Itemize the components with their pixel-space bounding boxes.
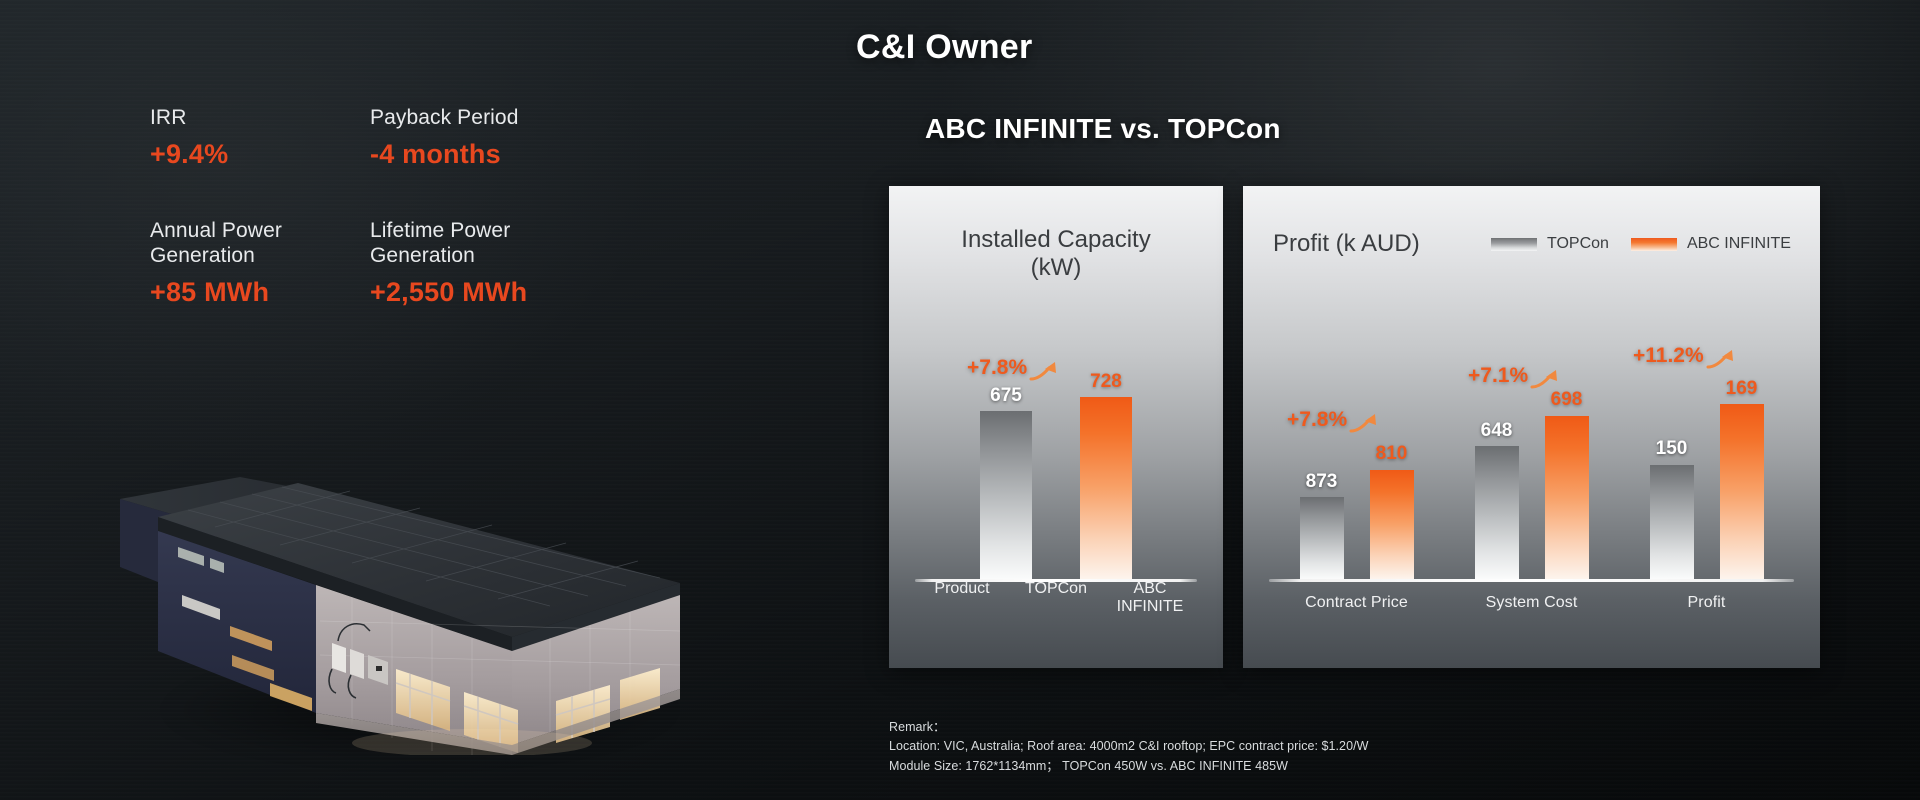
bar-topcon-system-cost: 648 [1475, 346, 1519, 579]
group-label-contract-price: Contract Price [1269, 594, 1444, 612]
bar-group-product: +7.8% 675 728 [915, 346, 1197, 582]
tick-label-topcon: TOPCon [1009, 580, 1103, 616]
kpi-payback-period-value: -4 months [370, 139, 650, 170]
installed-capacity-chart-panel: Installed Capacity (kW) +7.8% 675 [889, 186, 1223, 668]
bar-fill-topcon-system-cost [1475, 446, 1519, 579]
legend-label-abc-infinite: ABC INFINITE [1687, 235, 1791, 253]
installed-capacity-bars: 675 728 [915, 346, 1197, 579]
bar-value-topcon-capacity: 675 [990, 385, 1022, 407]
bar-group-profit: +11.2% 150 169 Profit [1619, 346, 1794, 582]
legend-swatch-topcon-icon [1491, 238, 1537, 251]
bar-group-contract-price: +7.8% 873 810 Contract [1269, 346, 1444, 582]
kpi-lifetime-power-generation: Lifetime Power Generation +2,550 MWh [370, 218, 650, 308]
building-render-svg [120, 455, 720, 755]
bar-value-topcon-profit: 150 [1656, 438, 1688, 460]
bar-fill-topcon-contract-price [1300, 497, 1344, 579]
bar-abc-infinite-profit: 169 [1720, 346, 1764, 579]
bar-value-abc-infinite-capacity: 728 [1090, 371, 1122, 393]
legend-item-topcon: TOPCon [1491, 235, 1609, 253]
legend-swatch-abc-infinite-icon [1631, 238, 1677, 251]
kpi-lifetime-power-generation-value: +2,550 MWh [370, 277, 650, 308]
axis-label-product: Product [915, 580, 1009, 616]
left-summary-pane: IRR +9.4% Payback Period -4 months Annua… [0, 0, 860, 800]
bar-topcon-capacity: 675 [980, 346, 1032, 579]
installed-capacity-chart-title: Installed Capacity (kW) [889, 226, 1223, 283]
installed-capacity-plot-area: +7.8% 675 728 [915, 346, 1197, 582]
bar-value-topcon-contract-price: 873 [1306, 471, 1338, 493]
bar-abc-infinite-capacity: 728 [1080, 346, 1132, 579]
group-label-profit: Profit [1619, 594, 1794, 612]
kpi-annual-power-generation-value: +85 MWh [150, 277, 370, 308]
profit-chart-legend: TOPCon ABC INFINITE [1491, 235, 1791, 253]
kpi-irr: IRR +9.4% [150, 105, 370, 170]
bar-topcon-profit: 150 [1650, 346, 1694, 579]
kpi-irr-label: IRR [150, 105, 370, 131]
system-cost-bars: 648 698 [1444, 346, 1619, 579]
bar-fill-abc-infinite-capacity [1080, 397, 1132, 579]
bar-value-abc-infinite-contract-price: 810 [1376, 443, 1408, 465]
bar-fill-topcon-profit [1650, 465, 1694, 579]
bar-fill-abc-infinite-system-cost [1545, 416, 1589, 579]
profit-plot-area: +7.8% 873 810 Contract [1269, 346, 1794, 582]
group-label-system-cost: System Cost [1444, 594, 1619, 612]
bar-fill-abc-infinite-contract-price [1370, 470, 1414, 580]
kpi-irr-value: +9.4% [150, 139, 370, 170]
bar-value-abc-infinite-profit: 169 [1726, 378, 1758, 400]
remark-note: Remark： Location: VIC, Australia; Roof a… [889, 718, 1368, 776]
installed-capacity-bar-groups: +7.8% 675 728 [915, 346, 1197, 582]
kpi-payback-period: Payback Period -4 months [370, 105, 650, 170]
bar-value-abc-infinite-system-cost: 698 [1551, 389, 1583, 411]
contract-price-bars: 873 810 [1269, 346, 1444, 579]
bar-topcon-contract-price: 873 [1300, 346, 1344, 579]
kpi-grid: IRR +9.4% Payback Period -4 months Annua… [150, 105, 650, 308]
bar-value-topcon-system-cost: 648 [1481, 420, 1513, 442]
building-illustration [120, 455, 720, 755]
installed-capacity-tick-labels: Product TOPCon ABC INFINITE [915, 580, 1197, 616]
bar-group-system-cost: +7.1% 648 698 System Co [1444, 346, 1619, 582]
kpi-lifetime-power-generation-label: Lifetime Power Generation [370, 218, 650, 269]
comparison-subtitle: ABC INFINITE vs. TOPCon [925, 113, 1281, 145]
profit-bars: 150 169 [1619, 346, 1794, 579]
profit-chart-title: Profit (k AUD) [1273, 230, 1420, 258]
legend-item-abc-infinite: ABC INFINITE [1631, 235, 1791, 253]
bar-abc-infinite-contract-price: 810 [1370, 346, 1414, 579]
bar-abc-infinite-system-cost: 698 [1545, 346, 1589, 579]
legend-label-topcon: TOPCon [1547, 235, 1609, 253]
tick-label-abc-infinite: ABC INFINITE [1103, 580, 1197, 616]
bar-fill-topcon-capacity [980, 411, 1032, 579]
bar-fill-abc-infinite-profit [1720, 404, 1764, 579]
kpi-annual-power-generation: Annual Power Generation +85 MWh [150, 218, 370, 308]
kpi-annual-power-generation-label: Annual Power Generation [150, 218, 370, 269]
profit-bar-groups: +7.8% 873 810 Contract [1269, 346, 1794, 582]
page-title: C&I Owner [856, 28, 1056, 67]
kpi-payback-period-label: Payback Period [370, 105, 650, 131]
profit-chart-panel: Profit (k AUD) TOPCon ABC INFINITE +7.8% [1243, 186, 1820, 668]
